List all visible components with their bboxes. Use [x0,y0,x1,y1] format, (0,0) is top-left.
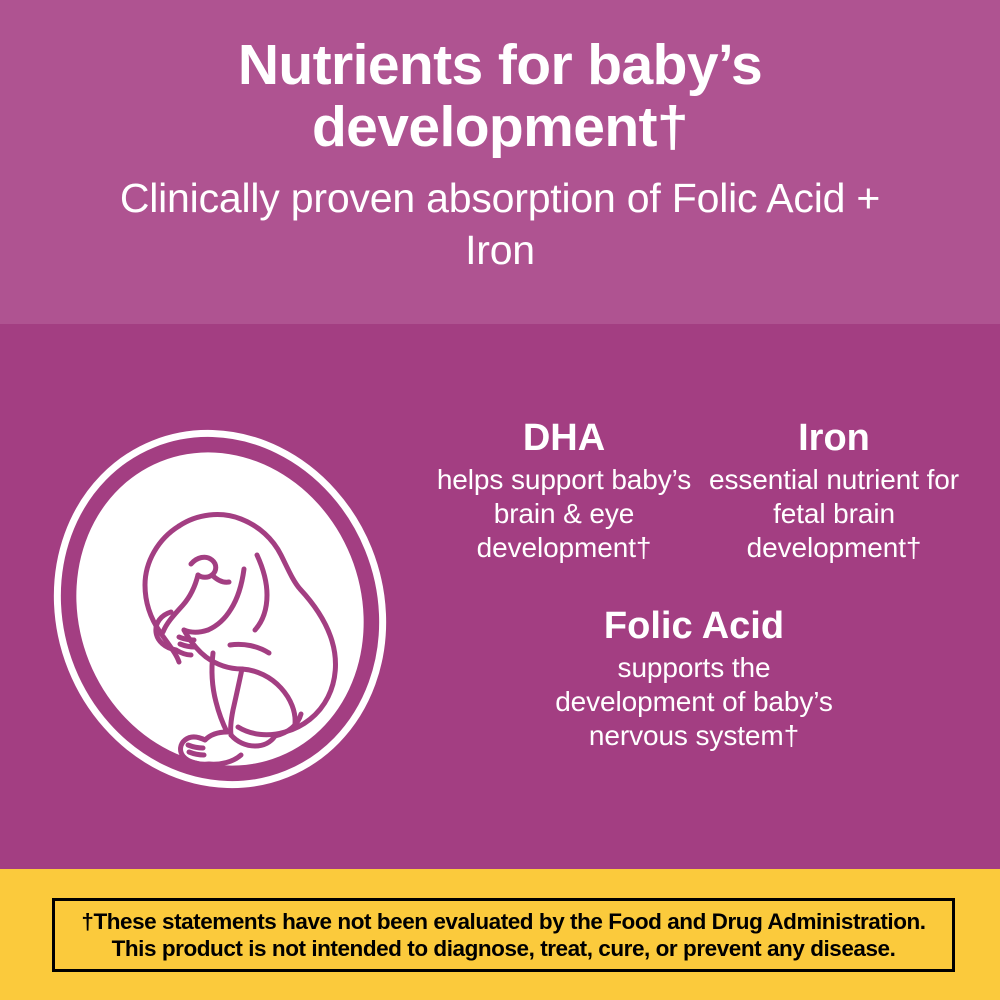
disclaimer-text: †These statements have not been evaluate… [55,908,952,962]
main-content-panel: DHA helps support baby’s brain & eye dev… [0,324,1000,869]
fetus-in-womb-illustration [45,429,395,789]
nutrient-description-folic-acid: supports the development of baby’s nervo… [548,651,840,753]
nutrient-block-dha: DHA helps support baby’s brain & eye dev… [418,417,710,565]
page-subtitle: Clinically proven absorption of Folic Ac… [0,172,1000,276]
nutrient-description-iron: essential nutrient for fetal brain devel… [706,463,962,565]
nutrient-title-iron: Iron [706,417,962,459]
fetus-illustration-svg [45,429,395,789]
nutrient-description-dha: helps support baby’s brain & eye develop… [418,463,710,565]
nutrient-title-dha: DHA [418,417,710,459]
disclaimer-band: †These statements have not been evaluate… [0,869,1000,1000]
disclaimer-box: †These statements have not been evaluate… [52,898,955,972]
nutrient-title-folic-acid: Folic Acid [548,605,840,647]
nutrient-block-folic-acid: Folic Acid supports the development of b… [548,605,840,753]
product-info-panel: Nutrients for baby’s development† Clinic… [0,0,1000,1000]
header-band: Nutrients for baby’s development† Clinic… [0,0,1000,324]
nutrient-block-iron: Iron essential nutrient for fetal brain … [706,417,962,565]
page-title: Nutrients for baby’s development† [0,34,1000,158]
